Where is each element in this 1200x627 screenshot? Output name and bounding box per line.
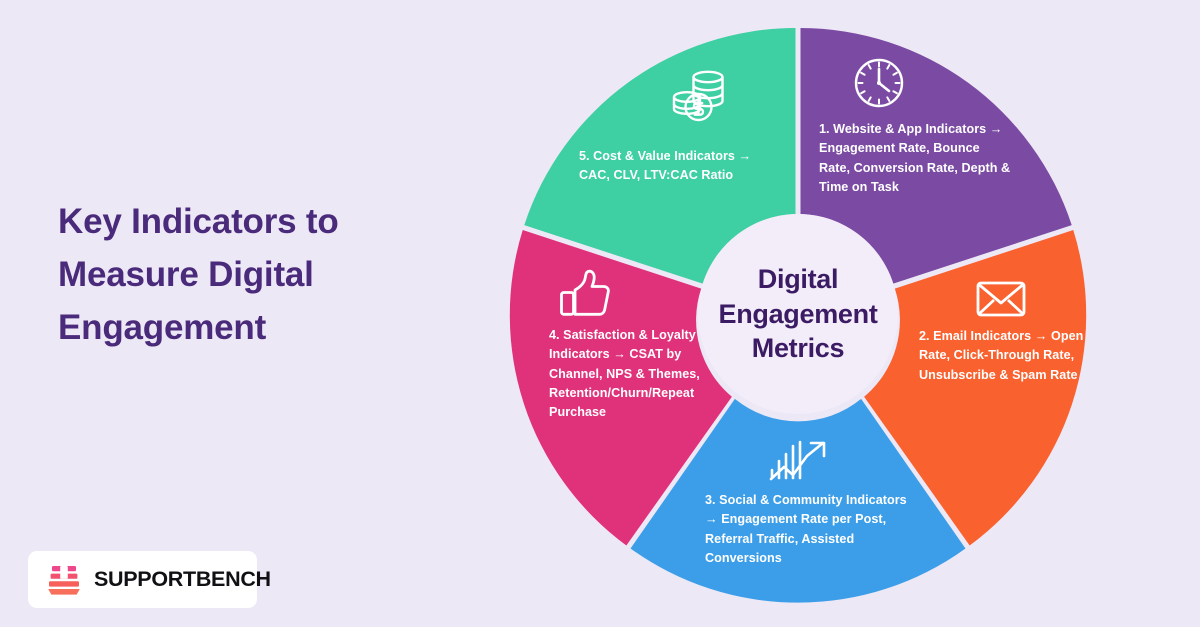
left-panel: Key Indicators to Measure Digital Engage… — [58, 195, 458, 355]
segment-label-website-app: 1. Website & App Indicators → Engagement… — [819, 120, 1013, 197]
thumbs-up-icon — [555, 266, 615, 324]
digital-engagement-donut-chart: Digital Engagement Metrics 1. Website & … — [498, 21, 1098, 607]
donut-center-hub: Digital Engagement Metrics — [698, 214, 898, 414]
growth-chart-icon — [766, 434, 834, 490]
envelope-icon — [970, 269, 1032, 327]
logo-wordmark: SUPPORTBENCH — [94, 567, 271, 592]
segment-label-satisfaction-loyalty: 4. Satisfaction & Loyalty Indicators → C… — [549, 326, 705, 422]
bench-icon — [45, 564, 83, 596]
segment-label-cost-value: 5. Cost & Value Indicators → CAC, CLV, L… — [579, 147, 777, 186]
clock-icon — [848, 53, 910, 113]
donut-center-label: Digital Engagement Metrics — [698, 262, 898, 366]
page-title: Key Indicators to Measure Digital Engage… — [58, 195, 458, 355]
segment-label-social-community: 3. Social & Community Indicators → Engag… — [705, 491, 921, 568]
segment-label-email: 2. Email Indicators → Open Rate, Click-T… — [919, 327, 1085, 385]
coins-icon — [668, 65, 731, 125]
supportbench-logo[interactable]: SUPPORTBENCH — [28, 551, 257, 608]
